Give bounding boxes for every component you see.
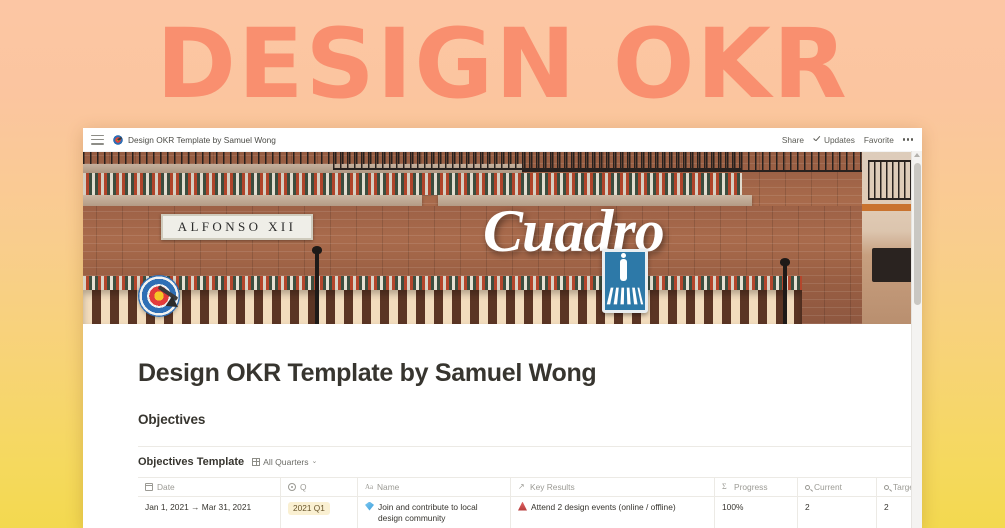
column-label: Date [157, 482, 175, 492]
rollup-icon [805, 485, 810, 490]
hamburger-menu-icon[interactable] [91, 135, 104, 145]
updates-button[interactable]: Updates [813, 135, 855, 145]
check-icon [813, 136, 821, 144]
share-label: Share [782, 135, 804, 145]
view-selector-all-quarters[interactable]: All Quarters ⌄ [252, 457, 317, 467]
cell-date[interactable]: Jan 1, 2021 → Mar 31, 2021 [138, 496, 281, 528]
database-title[interactable]: Objectives Template [138, 456, 244, 468]
formula-sigma-icon: Σ [722, 483, 730, 491]
share-button[interactable]: Share [782, 135, 804, 145]
objective-name: Join and contribute to local design comm… [378, 502, 503, 525]
cover-overlay [83, 152, 922, 324]
cell-quarter[interactable]: 2021 Q1 [281, 496, 358, 528]
topbar-actions: Share Updates Favorite [782, 135, 913, 145]
circus-tent-icon [518, 502, 527, 511]
gem-icon [365, 502, 374, 511]
updates-label: Updates [824, 135, 855, 145]
scroll-up-arrow-icon[interactable] [914, 153, 920, 157]
key-result-name: Attend 2 design events (online / offline… [531, 502, 707, 513]
table-view-icon [252, 458, 260, 466]
browser-topbar: Design OKR Template by Samuel Wong Share… [83, 128, 922, 152]
page-title[interactable]: Design OKR Template by Samuel Wong [138, 360, 922, 388]
cell-current[interactable]: 2 [798, 496, 877, 528]
column-label: Progress [734, 482, 768, 492]
page-content: Design OKR Template by Samuel Wong Objec… [83, 324, 922, 528]
view-label: All Quarters [263, 457, 308, 467]
dartboard-favicon [113, 135, 123, 145]
select-icon [288, 483, 296, 491]
column-header-current[interactable]: Current [798, 477, 877, 496]
column-header-key-results[interactable]: ↗ Key Results [511, 477, 715, 496]
dartboard-icon[interactable] [138, 275, 180, 317]
page-cover-image[interactable]: ALFONSO XII Cuadro [83, 152, 922, 324]
column-label: Current [814, 482, 842, 492]
column-label: Name [377, 482, 399, 492]
column-header-progress[interactable]: Σ Progress [715, 477, 798, 496]
cell-key-results[interactable]: Attend 2 design events (online / offline… [511, 496, 715, 528]
relation-arrow-icon: ↗ [518, 483, 526, 491]
column-header-name[interactable]: Aa Name [358, 477, 511, 496]
cell-name[interactable]: Join and contribute to local design comm… [358, 496, 511, 528]
section-heading-objectives[interactable]: Objectives [138, 412, 922, 427]
status-badge: 2021 Q1 [288, 502, 330, 516]
column-header-date[interactable]: Date [138, 477, 281, 496]
poster-title: DESIGN OKR [0, 16, 1005, 112]
database-header: Objectives Template All Quarters ⌄ [138, 446, 922, 468]
column-header-q[interactable]: Q [281, 477, 358, 496]
window-scrollbar[interactable] [911, 151, 922, 528]
rollup-icon [884, 485, 889, 490]
column-label: Q [300, 482, 307, 492]
favorite-button[interactable]: Favorite [864, 135, 894, 145]
cell-progress[interactable]: 100% [715, 496, 798, 528]
column-label: Key Results [530, 482, 575, 492]
ellipsis-icon[interactable] [903, 138, 913, 140]
tab-title: Design OKR Template by Samuel Wong [128, 135, 276, 145]
chevron-down-icon: ⌄ [312, 458, 318, 465]
favorite-label: Favorite [864, 135, 894, 145]
table-row[interactable]: Jan 1, 2021 → Mar 31, 2021 2021 Q1 Join … [138, 496, 922, 528]
calendar-icon [145, 483, 153, 491]
objectives-table: Date Q Aa Name ↗ Key Results [138, 477, 922, 528]
text-icon: Aa [365, 483, 373, 491]
table-header-row: Date Q Aa Name ↗ Key Results [138, 477, 922, 496]
scrollbar-thumb[interactable] [914, 163, 921, 305]
app-window: Design OKR Template by Samuel Wong Share… [83, 128, 922, 528]
